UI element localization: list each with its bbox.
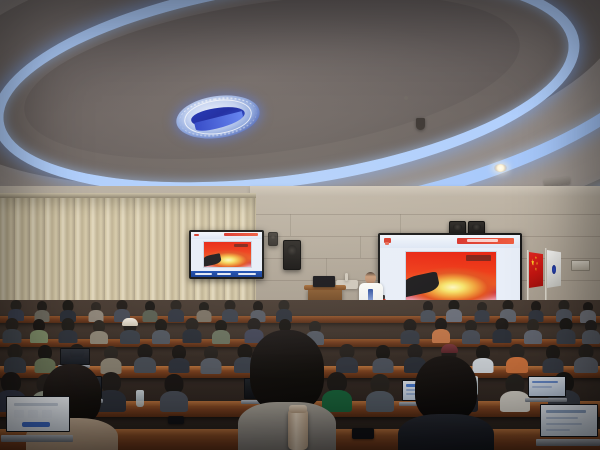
laptop-screen-content: [546, 410, 586, 413]
audience-member: [474, 302, 489, 321]
laptop-screen-content: [28, 410, 38, 418]
slide-thermal-image: [203, 241, 252, 268]
laptop-screen-content: [532, 381, 558, 383]
audience-member: [30, 319, 48, 342]
audience-member: [152, 319, 170, 343]
laptop[interactable]: [528, 376, 564, 402]
wall-plaque: [571, 260, 590, 271]
laptop[interactable]: [540, 404, 596, 446]
audience-member: [168, 345, 189, 372]
slide-logo-mark: [385, 242, 389, 245]
slide-dark-object: [405, 272, 440, 299]
laptop-screen-content: [22, 422, 50, 427]
laptop-screen-content: [14, 403, 58, 406]
audience-member-foreground: [398, 356, 494, 450]
lecture-hall-photo: RE: [0, 0, 600, 450]
thermos-lid: [289, 405, 307, 413]
laptop-screen-content: [546, 423, 582, 425]
audience-member: [580, 302, 596, 322]
slide-heat-label: [234, 244, 248, 247]
thermos-bottle: [288, 410, 308, 450]
audience-member: [366, 374, 394, 410]
beanie-icon: [441, 344, 458, 353]
audience-member: [182, 318, 201, 342]
laptop-screen-content: [546, 417, 578, 419]
audience-member-foreground: [238, 330, 336, 450]
hair: [250, 330, 324, 412]
audience-member: [160, 374, 188, 410]
secondary-screen-content: [191, 232, 262, 277]
hair: [415, 356, 477, 422]
flag-star-icon: [535, 256, 537, 260]
secondary-presentation-screen[interactable]: [189, 230, 264, 279]
audience-member: [574, 344, 598, 372]
water-bottle: [136, 390, 144, 407]
audience-member: [88, 302, 103, 321]
ceiling-camera-icon: [416, 118, 425, 130]
laptop-screen-content: [532, 386, 552, 388]
torso: [238, 402, 336, 450]
flag-emblem-icon: [552, 265, 556, 273]
audience-member: [542, 345, 563, 372]
audience-member: [34, 301, 49, 321]
slide-title-highlight: [467, 239, 498, 242]
audience-member: [134, 344, 156, 372]
national-flag: [529, 252, 543, 288]
audience-member: [372, 345, 393, 372]
audience-member: [222, 300, 238, 321]
laptop-screen-content: [42, 410, 52, 418]
seated-audience: RE: [0, 300, 600, 450]
audience-member-with-cap: [120, 318, 140, 343]
slide-thermal-image: [405, 251, 497, 302]
audience-member: [432, 318, 450, 342]
lectern-monitor: [313, 276, 335, 287]
audience-member: [492, 318, 511, 342]
laptop-screen-content: [14, 410, 24, 418]
laptop[interactable]: [6, 396, 68, 442]
smartphone[interactable]: [168, 416, 184, 424]
projector-arm: [345, 273, 348, 281]
audience-member: [462, 320, 480, 343]
slide-heat-label: [466, 255, 491, 260]
wall-speaker: [283, 240, 301, 270]
audience-member: [500, 374, 530, 410]
audience-member: [58, 318, 77, 342]
audience-member: [90, 320, 108, 343]
smartphone[interactable]: [352, 428, 374, 439]
slide-footer-band: [191, 271, 262, 277]
sprinkler-icon: [404, 96, 408, 100]
laptop-screen-content: [546, 429, 570, 431]
flag-star-icon: [531, 258, 534, 266]
audience-member: [4, 344, 26, 372]
wall-speaker: [268, 232, 278, 246]
audience-member: [528, 301, 543, 321]
institutional-flag: [547, 250, 561, 288]
audience-member: [276, 300, 292, 321]
audience-member: [582, 320, 600, 343]
flag-star-icon: [536, 261, 538, 265]
audience-member: [2, 318, 21, 342]
audience-member: [506, 344, 528, 372]
curtain-rod: [0, 193, 256, 198]
audience-member: [400, 319, 419, 343]
slide-title-band: [224, 233, 258, 236]
audience-member: [336, 344, 358, 372]
torso: [398, 414, 494, 450]
audience-member: [212, 320, 230, 343]
slide-dark-object: [203, 253, 222, 266]
flag-star-icon: [535, 267, 537, 271]
audience-member: [556, 318, 575, 343]
downlight: [494, 164, 507, 172]
baseball-cap-icon: [122, 318, 138, 326]
audience-member: [8, 300, 24, 320]
audience-member: [142, 301, 157, 321]
audience-member: [524, 319, 542, 343]
audience-member: [200, 346, 221, 373]
